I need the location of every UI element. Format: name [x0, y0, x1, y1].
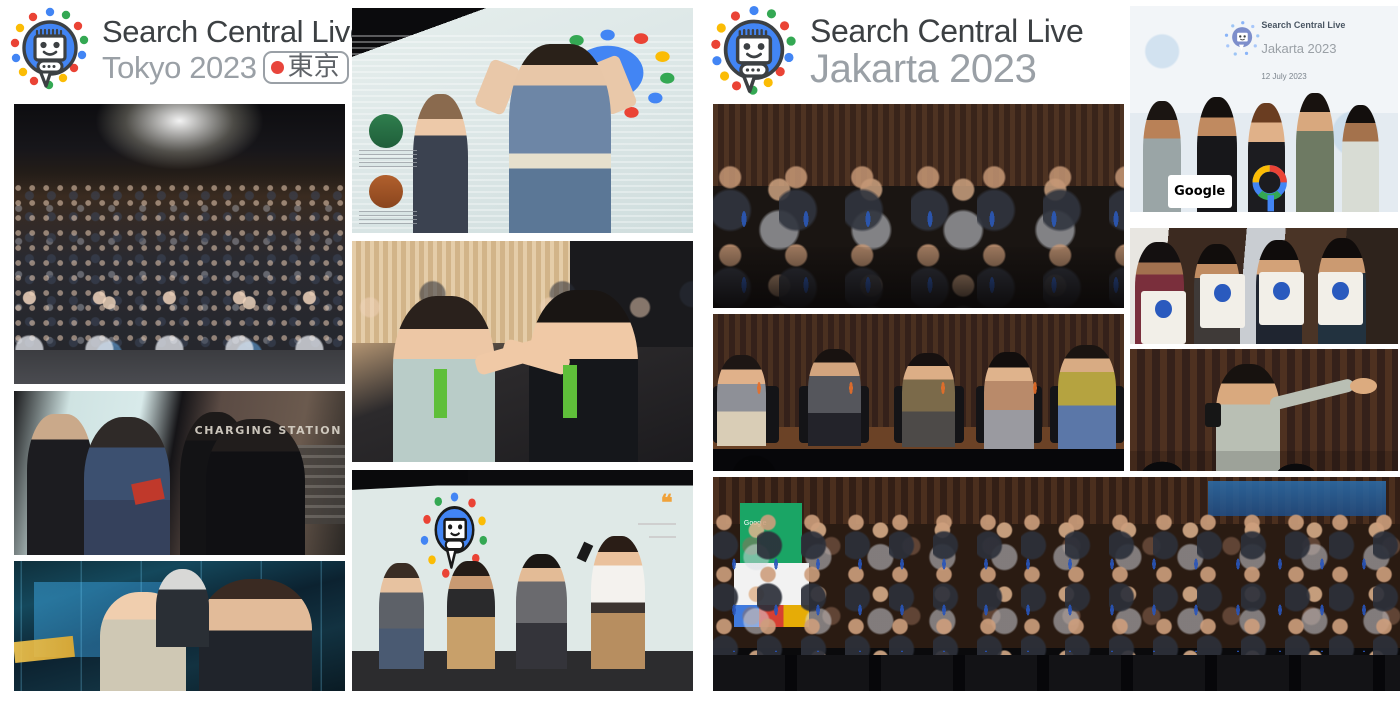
google-prop-sign: Google — [1168, 175, 1232, 208]
collage-page: Search Central Live Tokyo 2023 東京 — [0, 0, 1400, 704]
photo-tokyo-charging-station: CHARGING STATION — [14, 391, 345, 555]
photo-tokyo-heart-gesture — [352, 241, 693, 462]
search-central-mascot-icon — [708, 4, 800, 100]
tokyo-title-line2: Tokyo 2023 — [102, 52, 257, 83]
search-central-mascot-icon — [8, 6, 92, 94]
charging-station-sign-text: CHARGING STATION — [195, 424, 342, 437]
photo-jakarta-backdrop-group: Search Central Live Jakarta 2023 12 July… — [1130, 6, 1398, 212]
japan-locale-badge: 東京 — [263, 51, 349, 84]
japan-locale-text: 東京 — [288, 54, 340, 80]
photo-jakarta-panel — [713, 314, 1124, 471]
tokyo-title-line1: Search Central Live — [102, 16, 367, 47]
photo-jakarta-question-speaker — [1130, 349, 1398, 471]
google-prop-text: Google — [1174, 184, 1225, 199]
backdrop-date: 12 July 2023 — [1261, 72, 1306, 81]
backdrop-title: Search Central Live — [1261, 20, 1345, 30]
tokyo-title-block: Search Central Live Tokyo 2023 東京 — [102, 16, 367, 84]
backdrop-subtitle: Jakarta 2023 — [1261, 41, 1336, 56]
backdrop-mascot-icon — [1224, 16, 1262, 67]
photo-tokyo-audience — [14, 104, 345, 384]
tokyo-event-header: Search Central Live Tokyo 2023 東京 — [8, 6, 367, 94]
japan-flag-dot-icon — [271, 61, 284, 74]
photo-jakarta-audience — [713, 104, 1124, 308]
jakarta-title-line1: Search Central Live — [810, 15, 1083, 47]
jakarta-title-block: Search Central Live Jakarta 2023 — [810, 15, 1083, 89]
quote-mark-icon: ❝ — [661, 492, 673, 514]
jakarta-event-header: Search Central Live Jakarta 2023 — [708, 4, 1083, 100]
photo-tokyo-panel-discussion: ❝ — [352, 470, 693, 691]
jakarta-title-line2: Jakarta 2023 — [810, 49, 1083, 89]
photo-jakarta-tote-bags — [1130, 228, 1398, 344]
photo-tokyo-yukata-speaker — [352, 8, 693, 233]
photo-jakarta-group: Google — [713, 477, 1400, 691]
magnifier-prop-icon — [1248, 163, 1294, 212]
photo-tokyo-reception — [14, 561, 345, 691]
